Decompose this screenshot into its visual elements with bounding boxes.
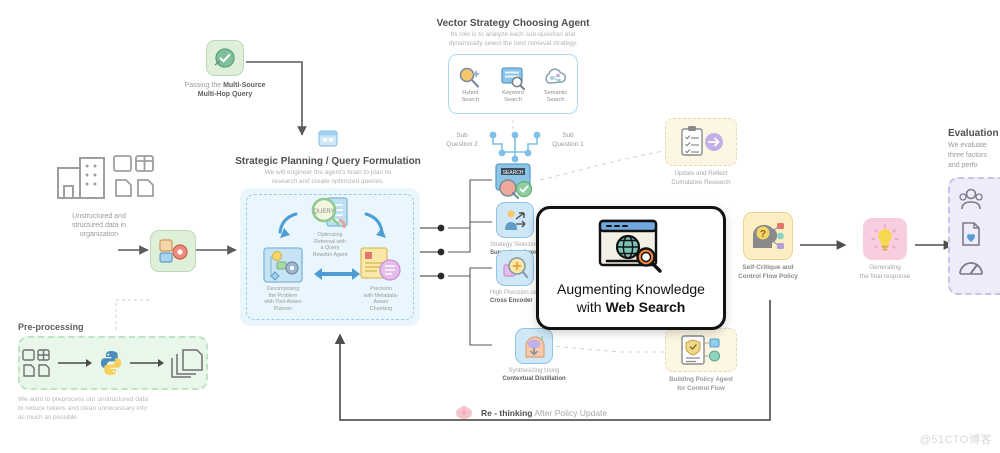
- passing-query-node: Passing the Multi-Source Multi-Hop Query: [170, 40, 280, 99]
- mc-l1: Precision: [350, 286, 412, 293]
- flow-planner-icon: [262, 246, 304, 284]
- final-response-node[interactable]: Generating the final response: [840, 218, 930, 281]
- rethinking-label: Re - thinking After Policy Update: [455, 405, 685, 421]
- final-l1: Generating: [840, 264, 930, 273]
- supervisor-agent-icon: [502, 208, 528, 232]
- eval-desc-2: three factors: [948, 151, 1000, 161]
- pipeline-contextual-distillation[interactable]: Synthesizing Using Contextual Distillati…: [474, 328, 594, 383]
- semantic-label-2: Search: [543, 97, 569, 104]
- tap-l4: Planner: [252, 306, 314, 313]
- svg-text:?: ?: [760, 229, 766, 240]
- self-critique-node[interactable]: ? Self-Critique and Control Flow Policy: [718, 212, 818, 281]
- preprocessing-label: Pre-processing: [18, 322, 208, 332]
- vector-agent-sub-2: dynamically select the best retrieval st…: [413, 40, 613, 49]
- gear-icon: [158, 237, 188, 265]
- strategy-hybrid-search[interactable]: Hybrid Search: [457, 66, 483, 104]
- calendar-icon: [317, 128, 339, 148]
- keyword-label-2: Search: [500, 97, 526, 104]
- overlay-line-1: Augmenting Knowledge: [539, 280, 723, 298]
- preprocessing-desc-2: to reduce tokens and clean unnecessary i…: [18, 404, 208, 413]
- evaluation-box: [948, 177, 1000, 295]
- eval-desc-1: We evaluate: [948, 141, 1000, 151]
- tap-l3: with Tool-Aware: [252, 299, 314, 306]
- critique-l2: Control Flow Policy: [718, 273, 818, 282]
- sub-question-2-line2: Question 2: [438, 141, 486, 150]
- ingest-gear-node[interactable]: [150, 230, 196, 272]
- preprocessing-box: [18, 336, 208, 390]
- preprocessing-section: Pre-processing: [18, 322, 208, 422]
- policy-icon-box: [665, 328, 737, 372]
- distill-l1: Synthesizing Using: [474, 367, 594, 375]
- source-data-node: Unstructured and structured data in orga…: [40, 150, 158, 239]
- hybrid-label-1: Hybrid: [457, 90, 483, 97]
- source-caption-2: structured data in: [40, 221, 158, 230]
- overlay-line-2-normal: with: [577, 299, 606, 315]
- strategic-planning-section: Strategic Planning / Query Formulation W…: [228, 128, 428, 186]
- distillation-icon-box: [515, 328, 553, 364]
- check-circle-box[interactable]: [206, 40, 244, 76]
- svg-text:SEARCH: SEARCH: [503, 170, 524, 176]
- check-circle-icon: [213, 46, 237, 70]
- vector-strategy-agent: Vector Strategy Choosing Agent Its role …: [413, 18, 613, 114]
- cumulative-research-node[interactable]: Update and Reflect Cumulative Research: [655, 118, 747, 187]
- cumulative-l2: Cumulative Research: [655, 179, 747, 188]
- strategy-semantic-search[interactable]: Semantic Search: [543, 66, 569, 104]
- mc-l3: Aware: [350, 299, 412, 306]
- passing-bold-1: Multi-Source: [223, 82, 265, 89]
- user-group-icon: [958, 187, 984, 213]
- hybrid-search-icon: [457, 66, 483, 90]
- documents-icon: [170, 348, 204, 378]
- cumulative-icon-box: [665, 118, 737, 166]
- critique-l1: Self-Critique and: [718, 264, 818, 273]
- search-browser-icon: SEARCH: [492, 162, 534, 200]
- policy-agent-node[interactable]: Building Policy Agent for Control Flow: [655, 328, 747, 393]
- planning-outer-box: QUERY Optimizing Retrieval with a Query …: [240, 188, 420, 326]
- organization-data-icon: [40, 150, 158, 208]
- semantic-label-1: Semantic: [543, 90, 569, 97]
- cumulative-l1: Update and Reflect: [655, 170, 747, 179]
- passing-bold-2: Multi-Hop Query: [198, 91, 252, 98]
- web-search-icon: [594, 219, 668, 275]
- planning-title: Strategic Planning / Query Formulation: [228, 156, 428, 167]
- overlay-icon-wrap: [539, 219, 723, 275]
- pipeline-search-node[interactable]: SEARCH: [492, 162, 536, 200]
- final-response-icon-box: [863, 218, 907, 260]
- keyword-label-1: Keyword: [500, 90, 526, 97]
- preprocessing-desc-3: as much as possible.: [18, 413, 208, 422]
- semantic-search-icon: [543, 66, 569, 90]
- keyword-search-icon: [500, 66, 526, 90]
- mc-l2: with Metadata-: [350, 293, 412, 300]
- question-head-icon: ?: [750, 220, 786, 252]
- planning-sub-1: We will engineer the agent's brain to pl…: [228, 169, 428, 178]
- rethinking-rest: After Policy Update: [532, 408, 607, 418]
- curved-arrows: [262, 210, 402, 244]
- source-caption-1: Unstructured and: [40, 212, 158, 221]
- policy-l2: for Control Flow: [655, 385, 747, 394]
- self-critique-icon-box: ?: [743, 212, 793, 260]
- diagram-canvas: Unstructured and structured data in orga…: [0, 0, 1000, 453]
- cross-encoder-icon: [502, 256, 528, 280]
- sub-question-1-line2: Question 1: [544, 141, 592, 150]
- vector-agent-sub-1: Its role is to analyze each sub-question…: [413, 31, 613, 40]
- document-heart-icon: [958, 221, 984, 247]
- overlay-line-2-bold: Web Search: [605, 299, 685, 315]
- calendar-box: [228, 128, 428, 153]
- document-chunk-icon: [359, 246, 403, 284]
- passing-prefix: Passing the: [185, 82, 224, 89]
- python-icon: [98, 350, 124, 376]
- tap-l2: the Problem: [252, 293, 314, 300]
- watermark: @51CTO博客: [920, 431, 992, 447]
- arrow-icon: [58, 358, 92, 368]
- speedometer-icon: [958, 255, 984, 281]
- source-caption-3: organization: [40, 230, 158, 239]
- eval-desc-3: and perfo: [948, 161, 1000, 171]
- card-metadata-chunking[interactable]: Precision with Metadata- Aware Chunking: [350, 246, 412, 312]
- evaluation-title: Evaluation: [948, 128, 1000, 139]
- hybrid-label-2: Search: [457, 97, 483, 104]
- supervisor-icon-box: [496, 202, 534, 238]
- sub-question-2-line1: Sub: [438, 132, 486, 141]
- final-l2: the final response: [840, 273, 930, 282]
- card-tool-aware-planner[interactable]: Decomposing the Problem with Tool-Aware …: [252, 246, 314, 312]
- tap-l1: Decomposing: [252, 286, 314, 293]
- distill-l2: Contextual Distillation: [474, 375, 594, 383]
- files-icon: [22, 348, 52, 378]
- sub-question-1-line1: Sub: [544, 132, 592, 141]
- arrow-icon: [130, 358, 164, 368]
- lightbulb-icon: [870, 224, 900, 254]
- brain-icon: [455, 405, 475, 421]
- planning-sub-2: research and create optimized queries.: [228, 178, 428, 187]
- strategy-keyword-search[interactable]: Keyword Search: [500, 66, 526, 104]
- strategy-options-box: Hybrid Search Keyword Search: [448, 54, 578, 114]
- preprocessing-desc-1: We want to preprocess our unstructured d…: [18, 395, 208, 404]
- brain-head-icon: [521, 333, 547, 359]
- evaluation-section: Evaluation We evaluate three factors and…: [948, 128, 1000, 295]
- vector-agent-title: Vector Strategy Choosing Agent: [413, 18, 613, 29]
- web-search-overlay-card[interactable]: Augmenting Knowledge with Web Search: [536, 206, 726, 330]
- shield-document-icon: [676, 334, 726, 366]
- policy-l1: Building Policy Agent: [655, 376, 747, 385]
- checklist-arrow-icon: [676, 125, 726, 159]
- mc-l4: Chunking: [350, 306, 412, 313]
- cross-encoder-icon-box: [496, 250, 534, 286]
- rethinking-bold: Re - thinking: [481, 408, 532, 418]
